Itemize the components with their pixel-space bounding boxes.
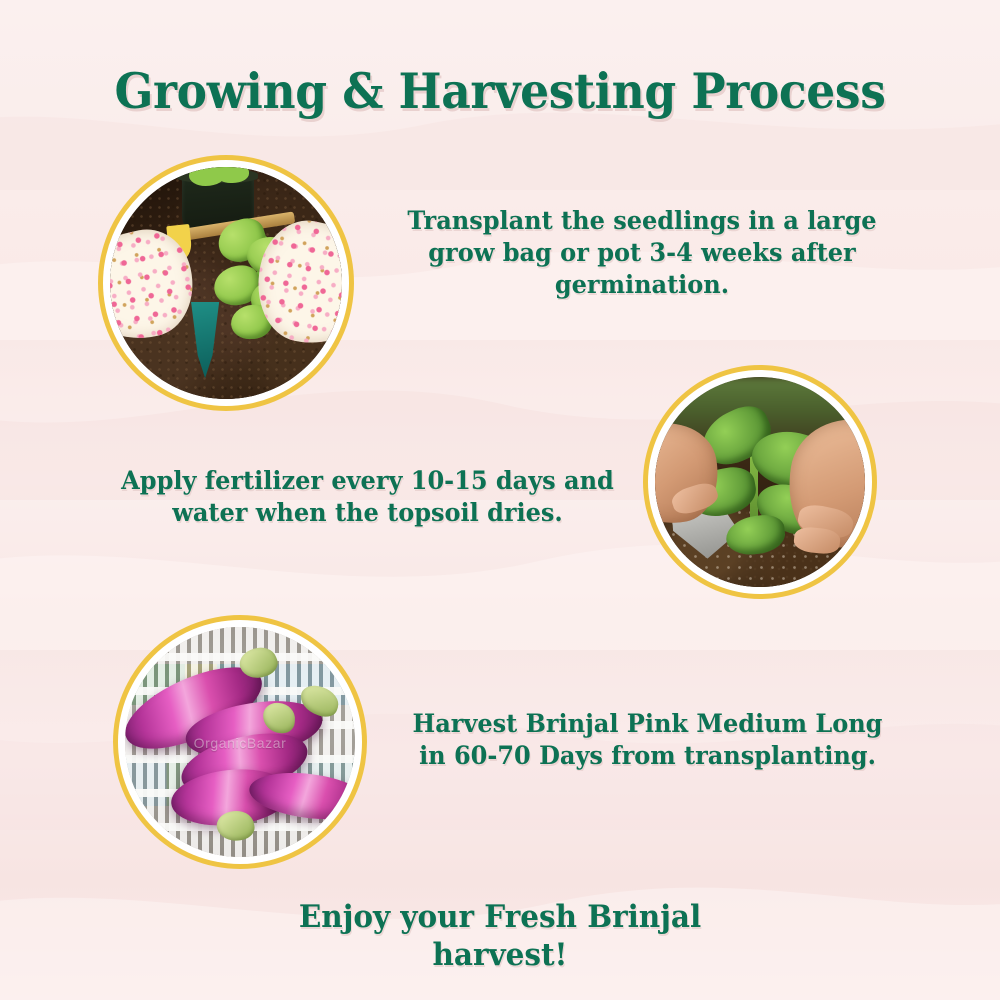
photo-frame-1 xyxy=(110,167,342,399)
harvested-pink-brinjal-photo: OrganicBazar xyxy=(118,620,362,864)
pot-leaf-icon xyxy=(291,167,326,188)
page-title: Growing & Harvesting Process xyxy=(35,62,965,120)
photo-frame-2 xyxy=(655,377,865,587)
scene-planting-gloves xyxy=(110,167,342,399)
step-2-text: Apply fertilizer every 10-15 days and wa… xyxy=(116,465,620,529)
photo-frame-3: OrganicBazar xyxy=(125,627,355,857)
step-1-text: Transplant the seedlings in a large grow… xyxy=(402,205,882,301)
hands-trowel-seedling-photo xyxy=(648,370,872,594)
scene-planting-trowel xyxy=(655,377,865,587)
step-3-text: Harvest Brinjal Pink Medium Long in 60-7… xyxy=(410,708,885,772)
infographic-poster: Growing & Harvesting Process xyxy=(0,0,1000,1000)
scene-harvest-crate: OrganicBazar xyxy=(125,627,355,857)
gloved-hands-planting-seedling-photo xyxy=(103,160,349,406)
footer-text: Enjoy your Fresh Brinjal harvest! xyxy=(263,898,738,975)
